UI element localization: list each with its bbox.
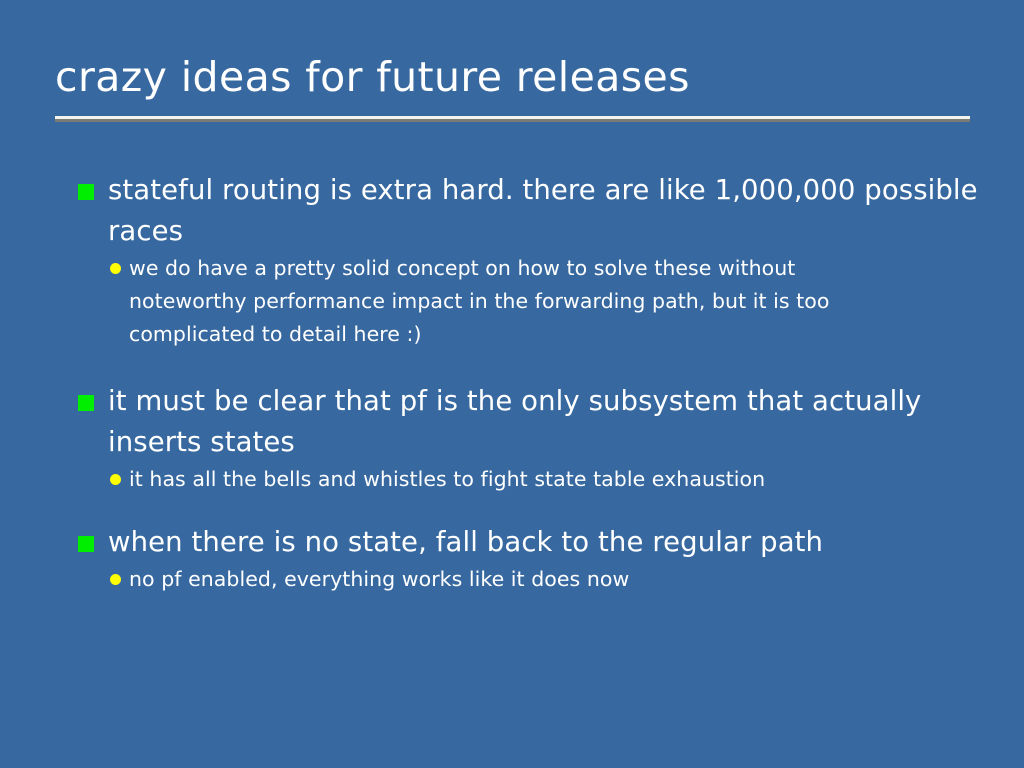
bullet-level1: when there is no state, fall back to the… [0,522,1024,563]
bullet-level2-label: no pf enabled, everything works like it … [129,567,629,591]
page-title: crazy ideas for future releases [55,52,970,102]
bullet-level1-label: it must be clear that pf is the only sub… [108,385,921,458]
dot-bullet-icon [110,574,121,585]
dot-bullet-icon [110,263,121,274]
bullet-level1-label: when there is no state, fall back to the… [108,526,823,558]
group-spacer [0,496,1024,522]
group-spacer [0,351,1024,381]
bullet-level1-label: stateful routing is extra hard. there ar… [108,174,978,247]
bullet-level1: it must be clear that pf is the only sub… [0,381,1024,463]
bullet-group: stateful routing is extra hard. there ar… [0,170,1024,351]
bullet-level2-label: we do have a pretty solid concept on how… [129,256,829,346]
presentation-slide: crazy ideas for future releases stateful… [0,0,1024,768]
square-bullet-icon [78,184,94,200]
square-bullet-icon [78,395,94,411]
bullet-level2: we do have a pretty solid concept on how… [0,252,1024,351]
square-bullet-icon [78,536,94,552]
bullet-level2: it has all the bells and whistles to fig… [0,463,1024,496]
slide-title-block: crazy ideas for future releases [55,52,970,102]
bullet-group: when there is no state, fall back to the… [0,522,1024,596]
bullet-group: it must be clear that pf is the only sub… [0,381,1024,496]
slide-content: stateful routing is extra hard. there ar… [0,170,1024,596]
bullet-level1: stateful routing is extra hard. there ar… [0,170,1024,252]
dot-bullet-icon [110,474,121,485]
bullet-level2-label: it has all the bells and whistles to fig… [129,467,765,491]
bullet-level2: no pf enabled, everything works like it … [0,563,1024,596]
title-underline-shadow [55,119,970,122]
